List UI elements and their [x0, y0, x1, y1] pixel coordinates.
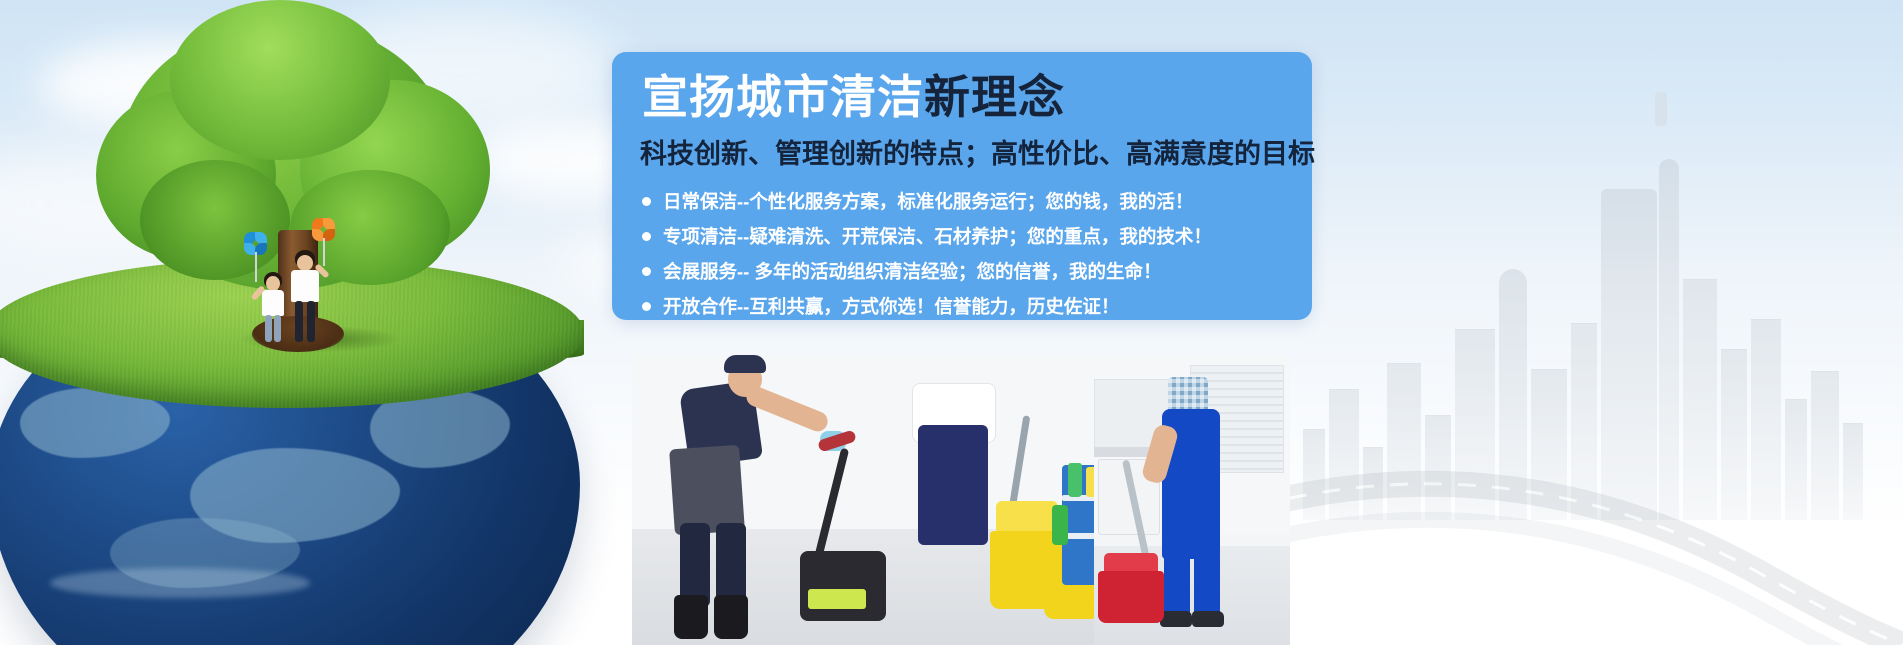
bullet-dot-icon — [642, 232, 651, 241]
panel-title-rest: 新理念 — [924, 71, 1065, 123]
promotional-banner: 宣扬城市清洁新理念 科技创新、管理创新的特点；高性价比、高满意度的目标 日常保洁… — [0, 0, 1903, 645]
feature-bullet-list: 日常保洁--个性化服务方案，标准化服务运行；您的钱，我的活！ 专项清洁--疑难清… — [642, 186, 1302, 326]
message-panel: 宣扬城市清洁新理念 科技创新、管理创新的特点；高性价比、高满意度的目标 日常保洁… — [612, 52, 1312, 320]
photo-kitchen-mopping — [1094, 355, 1290, 645]
child-left — [258, 272, 288, 342]
list-item: 日常保洁--个性化服务方案，标准化服务运行；您的钱，我的活！ — [642, 186, 1302, 217]
service-photo-strip — [632, 355, 1290, 645]
tree-canopy — [170, 0, 390, 160]
bullet-text: 开放合作--互利共赢，方式你选！信誉能力，历史佐证！ — [663, 294, 1119, 320]
child-right — [288, 250, 322, 342]
bullet-dot-icon — [642, 197, 651, 206]
panel-title-highlight: 宣扬城市清洁 — [642, 71, 924, 123]
panel-subtitle: 科技创新、管理创新的特点；高性价比、高满意度的目标 — [640, 136, 1315, 172]
bullet-text: 日常保洁--个性化服务方案，标准化服务运行；您的钱，我的活！ — [663, 189, 1193, 215]
bullet-dot-icon — [642, 267, 651, 276]
bullet-dot-icon — [642, 302, 651, 311]
photo-mop-bucket-cart — [904, 355, 1094, 645]
bullet-text: 会展服务-- 多年的活动组织清洁经验；您的信誉，我的生命！ — [663, 259, 1161, 285]
photo-worker-vacuum — [632, 355, 904, 645]
panel-title: 宣扬城市清洁新理念 — [642, 68, 1065, 126]
curved-road-graphic — [1243, 365, 1903, 645]
list-item: 开放合作--互利共赢，方式你选！信誉能力，历史佐证！ — [642, 291, 1302, 322]
list-item: 会展服务-- 多年的活动组织清洁经验；您的信誉，我的生命！ — [642, 256, 1302, 287]
tree-canopy — [140, 160, 290, 280]
list-item: 专项清洁--疑难清洗、开荒保洁、石材养护；您的重点，我的技术！ — [642, 221, 1302, 252]
bullet-text: 专项清洁--疑难清洗、开荒保洁、石材养护；您的重点，我的技术！ — [663, 224, 1212, 250]
globe-tree-illustration — [0, 0, 620, 645]
